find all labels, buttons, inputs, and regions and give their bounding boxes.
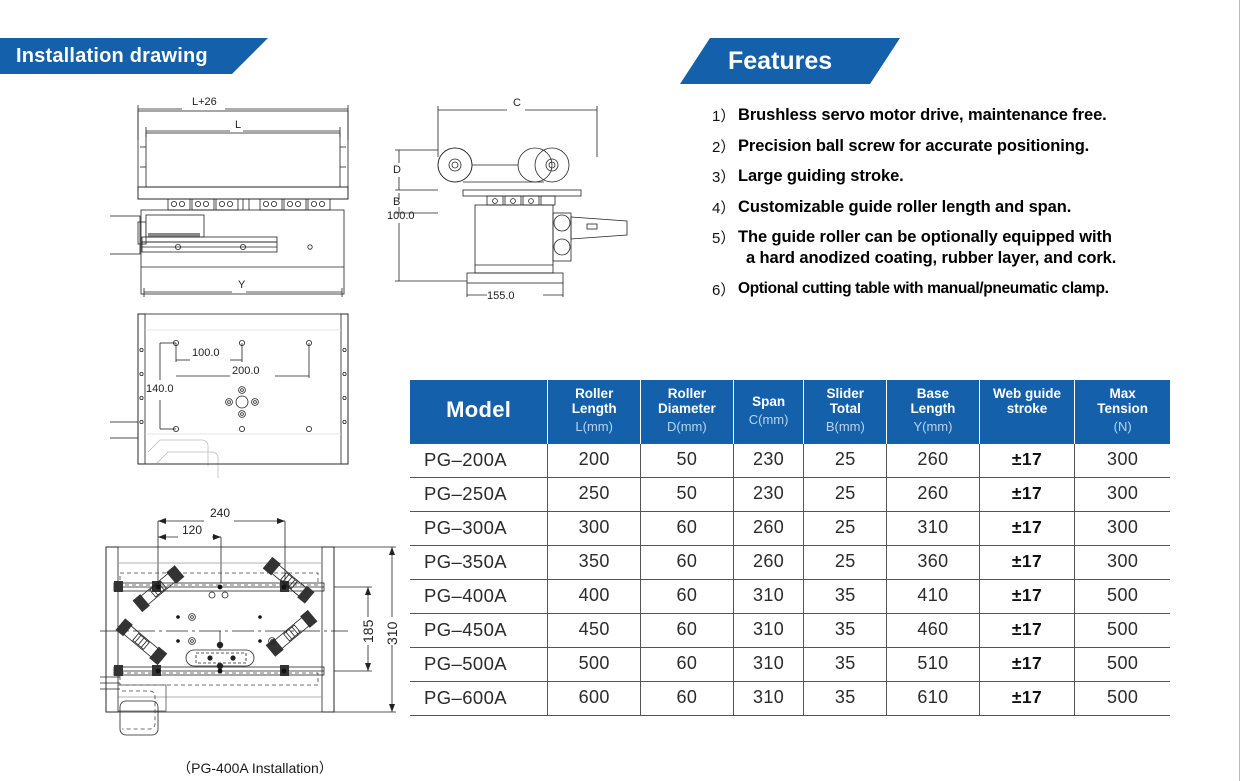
feature-item-6: 6） Optional cutting table with manual/pn… [712, 279, 1242, 301]
column-header-line2: Length [550, 401, 638, 416]
feature-text-line2: a hard anodized coating, rubber layer, a… [738, 248, 1116, 269]
column-header-line2: Tension [1077, 401, 1168, 416]
cell-web-guide-stroke: ±17 [979, 579, 1075, 613]
cell-model: PG–600A [410, 681, 548, 715]
cell-web-guide-stroke: ±17 [979, 647, 1075, 681]
cell-web-guide-stroke: ±17 [979, 681, 1075, 715]
cell-base-length: 260 [887, 443, 980, 477]
front-view-drawing: L+26 L [110, 95, 410, 305]
features-list: 1） Brushless servo motor drive, maintena… [712, 105, 1242, 310]
side-view-drawing: C D B [375, 95, 635, 305]
column-header-line1: Roller [643, 386, 731, 401]
cell-slider-total: 35 [804, 647, 887, 681]
column-header-line1: Slider [806, 386, 884, 401]
bottom-view-drawing: 240 120 [100, 505, 410, 755]
cell-base-length: 460 [887, 613, 980, 647]
dim-l: L [235, 119, 241, 131]
cell-roller-diameter: 50 [641, 477, 734, 511]
plan-view-drawing: 100.0 200.0 140.0 [110, 312, 400, 502]
cell-base-length: 410 [887, 579, 980, 613]
cell-roller-length: 300 [548, 511, 641, 545]
feature-number: 4） [712, 197, 738, 219]
feature-text: Precision ball screw for accurate positi… [738, 136, 1089, 157]
cell-span: 260 [733, 545, 804, 579]
cell-max-tension: 300 [1075, 477, 1170, 511]
column-header-roller-diameter: Roller Diameter D(mm) [641, 380, 734, 443]
feature-text-line1: The guide roller can be optionally equip… [738, 228, 1112, 246]
column-header-unit: Y(mm) [889, 420, 977, 435]
table-row: PG–350A 350 60 260 25 360 ±17 300 [410, 545, 1170, 579]
cell-slider-total: 25 [804, 477, 887, 511]
specification-table: Model Roller Length L(mm) Roller Diamete… [410, 380, 1170, 716]
table-row: PG–400A 400 60 310 35 410 ±17 500 [410, 579, 1170, 613]
cell-roller-diameter: 50 [641, 443, 734, 477]
table-row: PG–200A 200 50 230 25 260 ±17 300 [410, 443, 1170, 477]
cell-web-guide-stroke: ±17 [979, 511, 1075, 545]
column-header-line1: Span [736, 394, 802, 409]
cell-model: PG–350A [410, 545, 548, 579]
cell-roller-diameter: 60 [641, 545, 734, 579]
column-header-line1: Base [889, 386, 977, 401]
column-header-unit: B(mm) [806, 420, 884, 435]
cell-model: PG–250A [410, 477, 548, 511]
column-header-roller-length: Roller Length L(mm) [548, 380, 641, 443]
cell-roller-diameter: 60 [641, 511, 734, 545]
cell-web-guide-stroke: ±17 [979, 545, 1075, 579]
table-row: PG–450A 450 60 310 35 460 ±17 500 [410, 613, 1170, 647]
dim-240: 240 [210, 506, 230, 520]
table-header-row: Model Roller Length L(mm) Roller Diamete… [410, 380, 1170, 443]
feature-number: 2） [712, 136, 738, 158]
cell-slider-total: 25 [804, 545, 887, 579]
cell-max-tension: 300 [1075, 443, 1170, 477]
dim-120: 120 [182, 523, 202, 537]
cell-roller-diameter: 60 [641, 613, 734, 647]
column-header-unit: (N) [1077, 420, 1168, 435]
dim-310: 310 [384, 621, 400, 645]
dim-l-plus-26: L+26 [192, 96, 217, 108]
feature-item-4: 4） Customizable guide roller length and … [712, 197, 1242, 219]
feature-text: Large guiding stroke. [738, 166, 904, 187]
feature-number: 5） [712, 227, 738, 249]
cell-slider-total: 25 [804, 511, 887, 545]
cell-max-tension: 300 [1075, 545, 1170, 579]
dim-y: Y [238, 279, 246, 291]
cell-max-tension: 500 [1075, 579, 1170, 613]
features-banner: Features [680, 38, 900, 84]
cell-model: PG–300A [410, 511, 548, 545]
column-header-base-length: Base Length Y(mm) [887, 380, 980, 443]
column-header-slider-total: Slider Total B(mm) [804, 380, 887, 443]
cell-slider-total: 35 [804, 579, 887, 613]
dim-200-plan: 200.0 [232, 365, 260, 377]
feature-item-1: 1） Brushless servo motor drive, maintena… [712, 105, 1242, 127]
dim-d: D [393, 164, 401, 176]
cell-base-length: 310 [887, 511, 980, 545]
cell-slider-total: 35 [804, 613, 887, 647]
feature-item-5: 5） The guide roller can be optionally eq… [712, 227, 1242, 269]
column-header-line2: Length [889, 401, 977, 416]
cell-max-tension: 300 [1075, 511, 1170, 545]
feature-text: Brushless servo motor drive, maintenance… [738, 105, 1107, 126]
cell-max-tension: 500 [1075, 681, 1170, 715]
column-header-model-label: Model [412, 398, 545, 423]
cell-web-guide-stroke: ±17 [979, 613, 1075, 647]
installation-caption: （PG-400A Installation） [100, 758, 410, 778]
column-header-span: Span C(mm) [733, 380, 804, 443]
column-header-unit: L(mm) [550, 420, 638, 435]
cell-span: 310 [733, 613, 804, 647]
column-header-model: Model [410, 380, 548, 443]
cell-span: 230 [733, 477, 804, 511]
cell-span: 260 [733, 511, 804, 545]
cell-model: PG–500A [410, 647, 548, 681]
cell-span: 310 [733, 647, 804, 681]
cell-roller-length: 400 [548, 579, 641, 613]
cell-slider-total: 25 [804, 443, 887, 477]
column-header-unit: D(mm) [643, 420, 731, 435]
cell-roller-length: 450 [548, 613, 641, 647]
dim-185: 185 [360, 619, 376, 643]
dim-155: 155.0 [487, 290, 515, 302]
feature-item-2: 2） Precision ball screw for accurate pos… [712, 136, 1242, 158]
column-header-line2: Total [806, 401, 884, 416]
feature-number: 1） [712, 105, 738, 127]
cell-max-tension: 500 [1075, 613, 1170, 647]
column-header-web-guide-stroke: Web guide stroke [979, 380, 1075, 443]
feature-text: The guide roller can be optionally equip… [738, 227, 1116, 269]
dim-100-plan: 100.0 [192, 347, 220, 359]
datasheet-page: Installation drawing Features 1） Brushle… [0, 0, 1244, 781]
installation-drawing-banner: Installation drawing [0, 38, 268, 74]
table-row: PG–300A 300 60 260 25 310 ±17 300 [410, 511, 1170, 545]
cell-base-length: 260 [887, 477, 980, 511]
dim-100-height: 100.0 [387, 210, 415, 222]
column-header-line1: Max [1077, 386, 1168, 401]
cell-web-guide-stroke: ±17 [979, 443, 1075, 477]
cell-base-length: 360 [887, 545, 980, 579]
cell-roller-diameter: 60 [641, 647, 734, 681]
table-body: PG–200A 200 50 230 25 260 ±17 300 PG–250… [410, 443, 1170, 715]
cell-web-guide-stroke: ±17 [979, 477, 1075, 511]
column-header-line1: Web guide [982, 386, 1073, 401]
column-header-line1: Roller [550, 386, 638, 401]
cell-roller-length: 600 [548, 681, 641, 715]
column-header-max-tension: Max Tension (N) [1075, 380, 1170, 443]
column-header-line2: stroke [982, 401, 1073, 416]
cell-span: 310 [733, 681, 804, 715]
cell-roller-length: 200 [548, 443, 641, 477]
table-row: PG–250A 250 50 230 25 260 ±17 300 [410, 477, 1170, 511]
installation-drawing-banner-label: Installation drawing [16, 45, 208, 68]
cell-base-length: 510 [887, 647, 980, 681]
cell-span: 230 [733, 443, 804, 477]
cell-model: PG–200A [410, 443, 548, 477]
column-header-unit: C(mm) [736, 413, 802, 428]
cell-roller-length: 500 [548, 647, 641, 681]
features-banner-label: Features [728, 47, 832, 76]
cell-roller-diameter: 60 [641, 579, 734, 613]
dim-c: C [513, 97, 521, 109]
feature-text: Customizable guide roller length and spa… [738, 197, 1071, 218]
cell-span: 310 [733, 579, 804, 613]
cell-model: PG–450A [410, 613, 548, 647]
cell-roller-length: 250 [548, 477, 641, 511]
cell-model: PG–400A [410, 579, 548, 613]
cell-roller-diameter: 60 [641, 681, 734, 715]
feature-number: 3） [712, 166, 738, 188]
cell-slider-total: 35 [804, 681, 887, 715]
feature-item-3: 3） Large guiding stroke. [712, 166, 1242, 188]
column-header-line2: Diameter [643, 401, 731, 416]
dim-140-plan: 140.0 [146, 383, 174, 395]
feature-number: 6） [712, 279, 738, 301]
cell-roller-length: 350 [548, 545, 641, 579]
cell-max-tension: 500 [1075, 647, 1170, 681]
feature-text: Optional cutting table with manual/pneum… [738, 279, 1109, 299]
cell-base-length: 610 [887, 681, 980, 715]
table-row: PG–500A 500 60 310 35 510 ±17 500 [410, 647, 1170, 681]
table-row: PG–600A 600 60 310 35 610 ±17 500 [410, 681, 1170, 715]
